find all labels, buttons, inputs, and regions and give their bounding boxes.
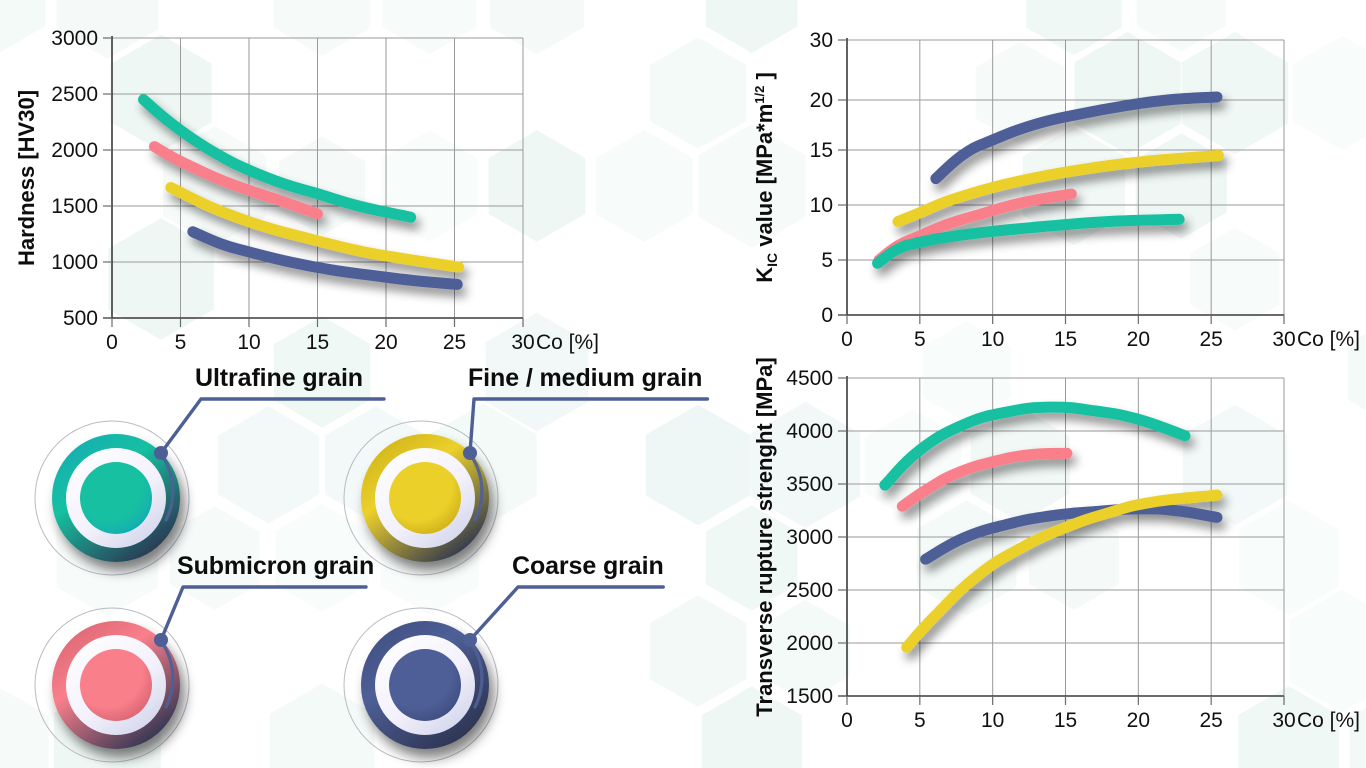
x-tick-label: 15 bbox=[1054, 328, 1077, 351]
disc-middle-ring bbox=[375, 635, 475, 735]
leader-arc bbox=[472, 457, 482, 520]
disc-outline-ring bbox=[35, 608, 189, 762]
disc-core bbox=[389, 462, 461, 534]
chart-hardness-svg: 50010001500200025003000051015202530Co [%… bbox=[0, 0, 700, 365]
x-axis-unit-label: Co [%] bbox=[1297, 328, 1360, 351]
series-line bbox=[902, 453, 1067, 506]
legend-label-ultrafine: Ultrafine grain bbox=[195, 364, 363, 393]
legend-label-fine_medium: Fine / medium grain bbox=[468, 364, 702, 393]
disc-outline-ring bbox=[35, 421, 189, 575]
disc-outer-ring bbox=[52, 434, 180, 562]
y-tick-label: 1500 bbox=[51, 195, 98, 218]
chart-trs-svg: 1500200025003000350040004500051015202530… bbox=[740, 358, 1366, 768]
y-tick-label: 4000 bbox=[786, 420, 833, 443]
series-line bbox=[171, 188, 459, 268]
y-axis-title: KIC value [MPa*m1/2 ] bbox=[752, 72, 780, 283]
chart-kic-value: 0510152030051015202530Co [%]KIC value [M… bbox=[740, 0, 1366, 358]
x-tick-label: 25 bbox=[1199, 709, 1222, 732]
series-line bbox=[154, 147, 317, 214]
disc-middle-ring bbox=[66, 448, 166, 548]
legend-label-submicron: Submicron grain bbox=[177, 552, 374, 581]
leader-dot bbox=[463, 633, 477, 647]
y-tick-label: 1500 bbox=[786, 685, 833, 708]
leader-line bbox=[470, 587, 663, 640]
y-tick-label: 5 bbox=[821, 249, 833, 272]
leader-line bbox=[161, 587, 366, 640]
leader-arc bbox=[163, 644, 173, 707]
disc-middle-ring bbox=[375, 448, 475, 548]
x-tick-label: 5 bbox=[914, 328, 926, 351]
leader-dot bbox=[463, 446, 477, 460]
leader-dot bbox=[154, 633, 168, 647]
leader-arc bbox=[472, 644, 482, 707]
y-tick-label: 20 bbox=[810, 89, 833, 112]
x-tick-label: 5 bbox=[914, 709, 926, 732]
chart-transverse-rupture-strength: 1500200025003000350040004500051015202530… bbox=[740, 358, 1366, 768]
series-group bbox=[878, 97, 1219, 263]
disc-outer-ring bbox=[361, 621, 489, 749]
chart-kic-svg: 0510152030051015202530Co [%]KIC value [M… bbox=[740, 0, 1366, 358]
x-tick-label: 20 bbox=[1127, 328, 1150, 351]
x-tick-label: 15 bbox=[1054, 709, 1077, 732]
y-tick-label: 3000 bbox=[51, 27, 98, 50]
y-tick-label: 1000 bbox=[51, 251, 98, 274]
disc-core bbox=[80, 649, 152, 721]
chart-hardness: 50010001500200025003000051015202530Co [%… bbox=[0, 0, 700, 365]
x-tick-label: 30 bbox=[511, 331, 534, 354]
y-tick-label: 2000 bbox=[786, 632, 833, 655]
y-tick-label: 4500 bbox=[786, 367, 833, 390]
y-tick-label: 3000 bbox=[786, 526, 833, 549]
x-tick-label: 20 bbox=[374, 331, 397, 354]
x-tick-label: 10 bbox=[981, 328, 1004, 351]
grain-size-legend: Ultrafine grainFine / medium grainSubmic… bbox=[0, 360, 740, 768]
x-tick-label: 0 bbox=[841, 709, 853, 732]
x-tick-label: 10 bbox=[981, 709, 1004, 732]
series-group bbox=[885, 407, 1217, 647]
y-tick-label: 2500 bbox=[786, 579, 833, 602]
leader-dot bbox=[154, 446, 168, 460]
x-tick-label: 10 bbox=[237, 331, 260, 354]
y-tick-label: 2500 bbox=[51, 83, 98, 106]
series-line bbox=[926, 509, 1217, 559]
x-tick-label: 30 bbox=[1272, 709, 1295, 732]
y-tick-label: 2000 bbox=[51, 139, 98, 162]
leader-line bbox=[161, 399, 384, 453]
leader-arc bbox=[163, 457, 173, 520]
disc-outline-ring bbox=[344, 608, 498, 762]
x-tick-label: 25 bbox=[443, 331, 466, 354]
x-tick-label: 15 bbox=[306, 331, 329, 354]
y-tick-label: 30 bbox=[810, 29, 833, 52]
y-axis-title: Transverse rupture strenght [MPa] bbox=[752, 357, 777, 716]
disc-outer-ring bbox=[361, 434, 489, 562]
x-tick-label: 30 bbox=[1272, 328, 1295, 351]
leader-line bbox=[470, 399, 707, 453]
series-line bbox=[885, 407, 1185, 485]
series-line bbox=[878, 219, 1180, 263]
disc-core bbox=[389, 649, 461, 721]
disc-middle-ring bbox=[66, 635, 166, 735]
y-axis-title: Hardness [HV30] bbox=[14, 90, 39, 266]
x-axis-unit-label: Co [%] bbox=[1297, 709, 1360, 732]
x-axis-unit-label: Co [%] bbox=[536, 331, 599, 354]
y-tick-label: 0 bbox=[821, 304, 833, 327]
y-tick-label: 10 bbox=[810, 194, 833, 217]
disc-outer-ring bbox=[52, 621, 180, 749]
y-tick-label: 3500 bbox=[786, 473, 833, 496]
x-tick-label: 25 bbox=[1199, 328, 1222, 351]
x-tick-label: 5 bbox=[175, 331, 187, 354]
x-tick-label: 20 bbox=[1127, 709, 1150, 732]
disc-core bbox=[80, 462, 152, 534]
legend-label-coarse: Coarse grain bbox=[512, 552, 664, 581]
x-tick-label: 0 bbox=[106, 331, 118, 354]
y-tick-label: 15 bbox=[810, 139, 833, 162]
series-group bbox=[144, 100, 459, 285]
y-tick-label: 500 bbox=[63, 307, 98, 330]
x-tick-label: 0 bbox=[841, 328, 853, 351]
